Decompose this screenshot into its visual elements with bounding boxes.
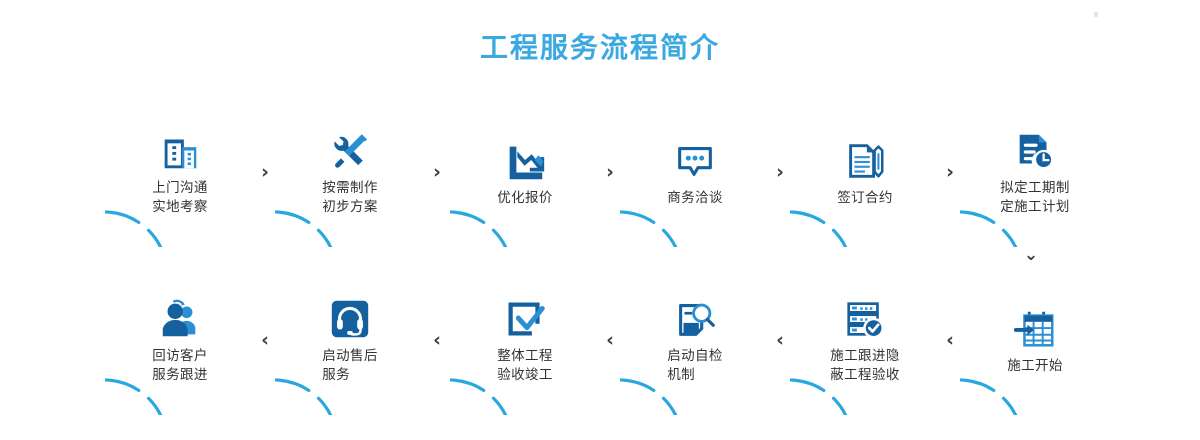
flow-step-label: 回访客户 服务跟进 [152,346,208,384]
chevron-right-icon-4: › [770,163,790,182]
two-users-icon [157,296,203,342]
document-magnifier-icon [672,296,718,342]
flow-step-label: 施工跟进隐 蔽工程验收 [830,346,900,384]
flow-step-label: 整体工程 验收竣工 [497,346,553,384]
flow-step-label: 按需制作 初步方案 [322,178,378,216]
flow-step-9[interactable]: 启动自检 机制 [620,265,770,415]
chevron-down-icon: ⌄ [1021,247,1041,264]
flow-step-label: 启动自检 机制 [667,346,723,384]
flow-step-4[interactable]: 商务洽谈 [620,97,770,247]
tools-wrench-screwdriver-icon [327,128,373,174]
flow-step-label: 商务洽谈 [667,188,723,207]
checkbox-check-icon [502,296,548,342]
flow-step-10[interactable]: 整体工程 验收竣工 [450,265,600,415]
chevron-right-icon-5: › [940,163,960,182]
server-check-icon [842,296,888,342]
flow-step-5[interactable]: 签订合约 [790,97,940,247]
flow-step-8[interactable]: 施工跟进隐 蔽工程验收 [790,265,940,415]
flow-step-3[interactable]: 优化报价 [450,97,600,247]
document-clock-icon [1012,128,1058,174]
chevron-right-icon-1: › [255,163,275,182]
process-flow-infographic: 工程服务流程简介 [0,0,1200,440]
calendar-arrow-icon [1012,306,1058,352]
chevron-left-icon-4: ‹ [770,331,790,350]
chart-down-icon [502,138,548,184]
chevron-left-icon-2: ‹ [427,331,447,350]
flow-step-label: 启动售后 服务 [322,346,378,384]
background-artifact [1094,12,1098,17]
flow-step-7[interactable]: 施工开始 [960,265,1110,415]
flow-step-label: 优化报价 [497,188,553,207]
chevron-left-icon-5: ‹ [940,331,960,350]
chevron-left-icon-1: ‹ [255,331,275,350]
building-icon [157,128,203,174]
chevron-left-icon-3: ‹ [600,331,620,350]
chevron-right-icon-2: › [427,163,447,182]
flow-step-6[interactable]: 拟定工期制 定施工计划 [960,97,1110,247]
flow-step-label: 签订合约 [837,188,893,207]
flow-step-label: 施工开始 [1007,356,1063,375]
flow-step-11[interactable]: 启动售后 服务 [275,265,425,415]
speech-bubble-icon [672,138,718,184]
flow-row-bottom: 回访客户 服务跟进 启动售后 服务 [0,265,1200,415]
flow-step-label: 拟定工期制 定施工计划 [1000,178,1070,216]
flow-step-2[interactable]: 按需制作 初步方案 [275,97,425,247]
flow-step-1[interactable]: 上门沟通 实地考察 [105,97,255,247]
flow-row-top: 上门沟通 实地考察 [0,97,1200,247]
flow-step-label: 上门沟通 实地考察 [152,178,208,216]
page-title: 工程服务流程简介 [0,26,1200,66]
chevron-right-icon-3: › [600,163,620,182]
contract-pen-icon [842,138,888,184]
headset-support-icon [327,296,373,342]
flow-step-12[interactable]: 回访客户 服务跟进 [105,265,255,415]
